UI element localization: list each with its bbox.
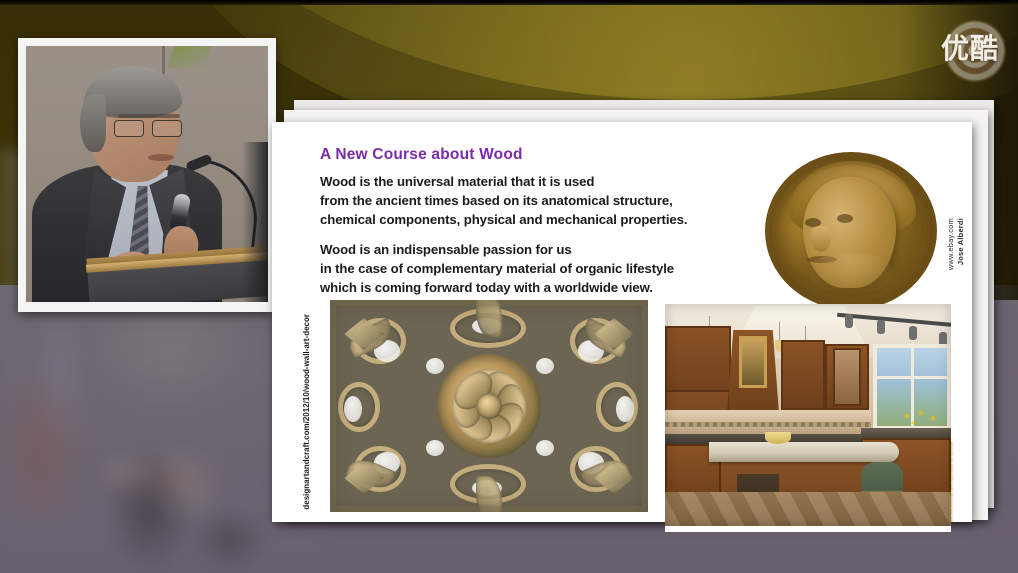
speaker-photo: [26, 46, 268, 302]
slide-title: A New Course about Wood: [320, 146, 523, 164]
video-frame: 优酷: [0, 0, 1018, 573]
watermark-label: 优酷: [930, 32, 1010, 66]
speaker-mouth: [148, 154, 174, 161]
kitchen-photo-image: [665, 304, 951, 526]
wall-green-accent: [168, 46, 213, 68]
panel-border: [330, 300, 648, 512]
background-top-bar: [0, 0, 1018, 5]
carved-medallion-image: [765, 152, 937, 310]
slide-paragraph-1: Wood is the universal material that it i…: [320, 172, 687, 229]
youku-watermark: 优酷: [930, 20, 1010, 82]
medallion-rim: [769, 156, 933, 306]
credit-medallion-author: Jose Alberdi: [956, 218, 965, 265]
photo-right-shadow: [242, 142, 268, 302]
speaker-brow: [118, 114, 180, 118]
slide-card-main: A New Course about Wood Wood is the univ…: [272, 122, 972, 522]
credit-panel-source: designartandcraft.com/2012/10/wood-wall-…: [302, 314, 311, 510]
eyeglasses-icon: [114, 120, 186, 137]
credit-medallion-source: www.ebay.com: [946, 218, 955, 270]
carved-wood-panel-image: [330, 300, 648, 512]
speaker-photo-frame: [18, 38, 276, 312]
speaker-hair-side: [80, 94, 106, 152]
kitchen-photo-vignette: [665, 304, 951, 526]
slide-paragraph-2: Wood is an indispensable passion for us …: [320, 240, 674, 297]
kitchen-photo-bottom-strip: [665, 526, 951, 532]
